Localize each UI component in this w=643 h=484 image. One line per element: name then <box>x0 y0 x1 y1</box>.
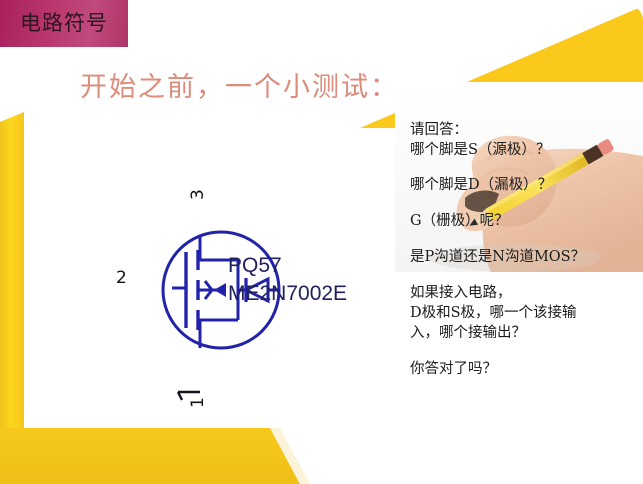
pin-3-label: 3 <box>188 189 208 200</box>
pin-2-label: 2 <box>116 268 127 288</box>
question-correct: 你答对了吗？ <box>410 359 643 379</box>
pin-1-label: 1 <box>188 397 208 408</box>
title-badge: 电路符号 <box>0 0 128 47</box>
question-drain: 哪个脚是D（漏极）？ <box>410 175 643 195</box>
question-gate: G（栅极）呢？ <box>410 211 643 231</box>
question-answer-prompt: 请回答： 哪个脚是S（源极）？ <box>410 120 643 160</box>
part-number: ME2N7002E <box>228 280 347 308</box>
part-designator-and-number: PQ57 ME2N7002E <box>228 252 347 308</box>
part-designator: PQ57 <box>228 252 347 280</box>
question-list: 请回答： 哪个脚是S（源极）？ 哪个脚是D（漏极）？ G（栅极）呢？ 是P沟道还… <box>410 120 643 395</box>
page-title: 开始之前，一个小测试： <box>80 65 399 104</box>
question-channel-type: 是P沟道还是N沟道MOS？ <box>410 247 643 267</box>
slide-canvas: 电路符号 开始之前，一个小测试： <box>0 0 643 484</box>
question-circuit-io: 如果接入电路， D极和S极，哪一个该接输 入，哪个接输出？ <box>410 283 643 343</box>
title-badge-label: 电路符号 <box>20 13 108 34</box>
